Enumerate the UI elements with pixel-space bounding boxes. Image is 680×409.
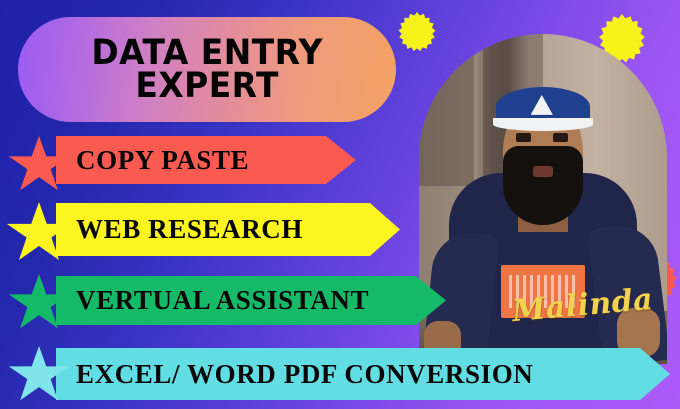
service-label-copy-paste: COPY PASTE xyxy=(76,145,249,176)
arrow-shape-web-research: WEB RESEARCH xyxy=(56,203,400,256)
person-mouth xyxy=(533,166,553,177)
service-label-web-research: WEB RESEARCH xyxy=(76,214,303,245)
arrow-shape-excel-word-pdf: EXCEL/ WORD PDF CONVERSION xyxy=(56,348,670,400)
gig-thumbnail-poster: DATA ENTRY EXPERT COPY PASTE WEB RESEARC… xyxy=(0,0,680,409)
service-banner-web-research: WEB RESEARCH xyxy=(56,203,400,256)
person-beard xyxy=(503,146,582,225)
page-title: DATA ENTRY EXPERT xyxy=(91,37,323,103)
service-banner-excel-word-pdf: EXCEL/ WORD PDF CONVERSION xyxy=(56,348,670,400)
arrow-shape-virtual-assistant: VERTUAL ASSISTANT xyxy=(56,276,446,325)
title-banner: DATA ENTRY EXPERT xyxy=(18,17,396,122)
service-label-virtual-assistant: VERTUAL ASSISTANT xyxy=(76,285,369,316)
arrow-shape-copy-paste: COPY PASTE xyxy=(56,136,356,184)
person-right-eye xyxy=(553,133,568,142)
service-label-excel-word-pdf: EXCEL/ WORD PDF CONVERSION xyxy=(76,359,533,390)
service-banner-copy-paste: COPY PASTE xyxy=(56,136,356,184)
person-left-eye xyxy=(516,133,531,142)
photo-wall-shadow xyxy=(419,34,474,186)
service-banner-virtual-assistant: VERTUAL ASSISTANT xyxy=(56,276,446,325)
title-line-2: EXPERT xyxy=(91,70,323,103)
